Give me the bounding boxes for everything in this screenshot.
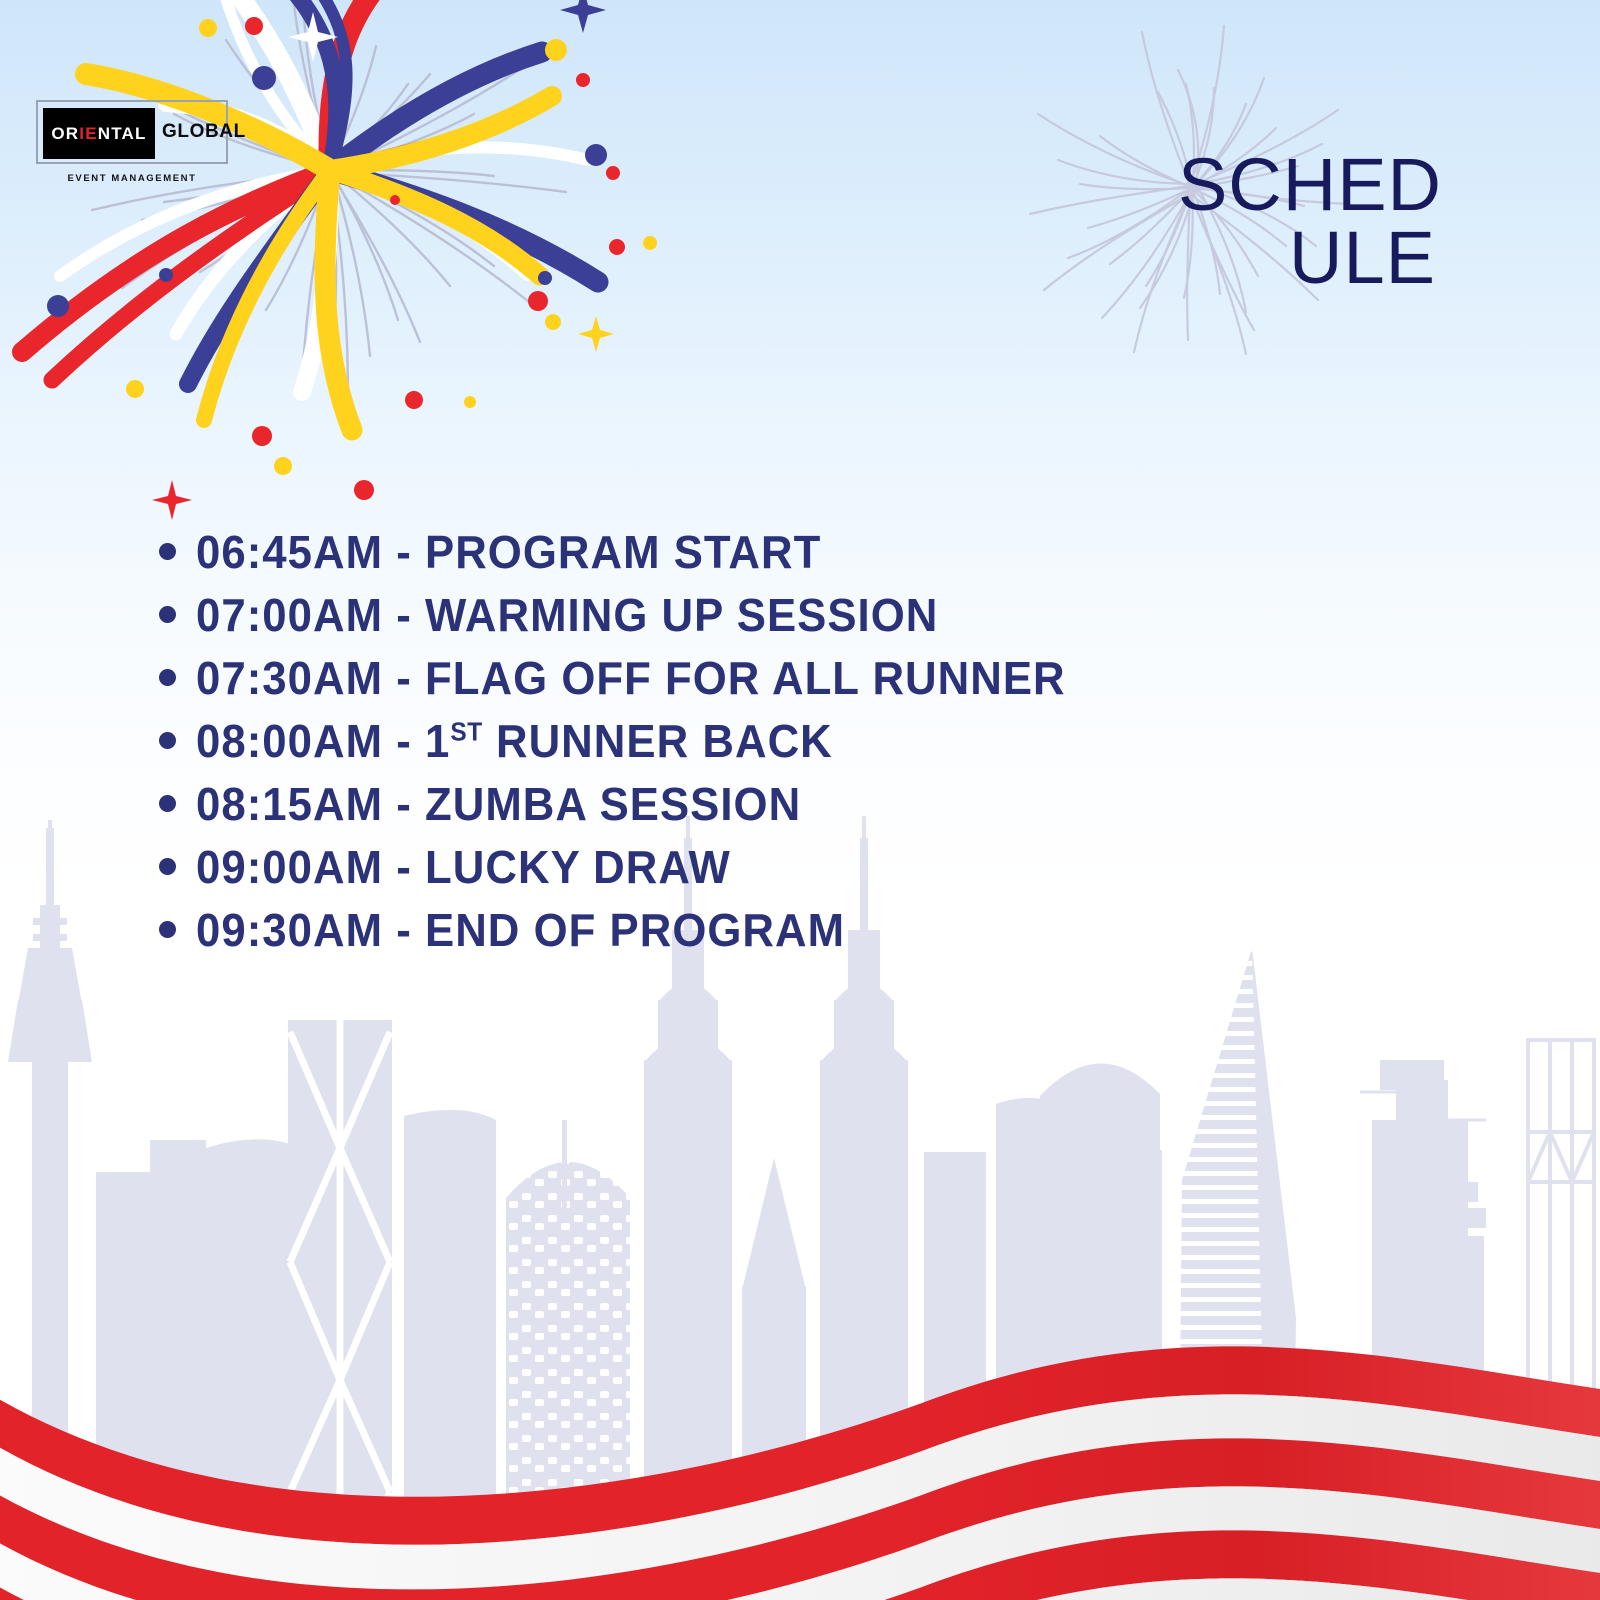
logo-frame: ORIENTAL GLOBAL bbox=[36, 100, 228, 164]
list-item: 08:15AM - ZUMBA SESSION bbox=[150, 772, 1450, 835]
schedule-poster: ORIENTAL GLOBAL EVENT MANAGEMENT SCHED U… bbox=[0, 0, 1600, 1600]
list-item: 09:30AM - END OF PROGRAM bbox=[150, 898, 1450, 961]
list-item: 08:00AM - 1ST RUNNER BACK bbox=[150, 709, 1450, 772]
schedule-item-text: 08:15AM - ZUMBA SESSION bbox=[196, 781, 801, 827]
page-title: SCHED ULE bbox=[902, 148, 1442, 295]
schedule-item-text: 09:30AM - END OF PROGRAM bbox=[196, 907, 845, 953]
schedule-item-text: 09:00AM - LUCKY DRAW bbox=[196, 844, 731, 890]
schedule-item-time: 08:00AM bbox=[196, 715, 383, 767]
schedule-item-ordinal-suffix: ST bbox=[450, 718, 482, 746]
bullet-icon bbox=[150, 921, 196, 938]
bullet-icon bbox=[150, 732, 196, 749]
logo-word-highlight: IE bbox=[79, 124, 97, 143]
list-item: 09:00AM - LUCKY DRAW bbox=[150, 835, 1450, 898]
page-title-line-1: SCHED bbox=[1178, 143, 1442, 226]
bullet-icon bbox=[150, 858, 196, 875]
schedule-item-text: 08:00AM - 1ST RUNNER BACK bbox=[196, 718, 833, 764]
bullet-icon bbox=[150, 669, 196, 686]
schedule-list: 06:45AM - PROGRAM START 07:00AM - WARMIN… bbox=[150, 520, 1450, 961]
schedule-item-text: 07:00AM - WARMING UP SESSION bbox=[196, 592, 938, 638]
logo-word-global: GLOBAL bbox=[162, 122, 246, 141]
schedule-item-activity: RUNNER BACK bbox=[483, 715, 833, 767]
bullet-icon bbox=[150, 795, 196, 812]
schedule-item-separator: - bbox=[383, 715, 425, 767]
schedule-item-ordinal: 1 bbox=[425, 715, 450, 767]
bullet-icon bbox=[150, 606, 196, 623]
brand-logo: ORIENTAL GLOBAL EVENT MANAGEMENT bbox=[36, 100, 232, 184]
logo-word-oriental: ORIENTAL bbox=[51, 125, 146, 142]
schedule-item-text: 07:30AM - FLAG OFF FOR ALL RUNNER bbox=[196, 655, 1066, 701]
list-item: 07:00AM - WARMING UP SESSION bbox=[150, 583, 1450, 646]
list-item: 06:45AM - PROGRAM START bbox=[150, 520, 1450, 583]
logo-tagline: EVENT MANAGEMENT bbox=[36, 173, 228, 184]
page-title-line-2: ULE bbox=[902, 221, 1442, 294]
list-item: 07:30AM - FLAG OFF FOR ALL RUNNER bbox=[150, 646, 1450, 709]
bullet-icon bbox=[150, 543, 196, 560]
logo-badge: ORIENTAL bbox=[43, 108, 155, 159]
schedule-item-text: 06:45AM - PROGRAM START bbox=[196, 529, 821, 575]
